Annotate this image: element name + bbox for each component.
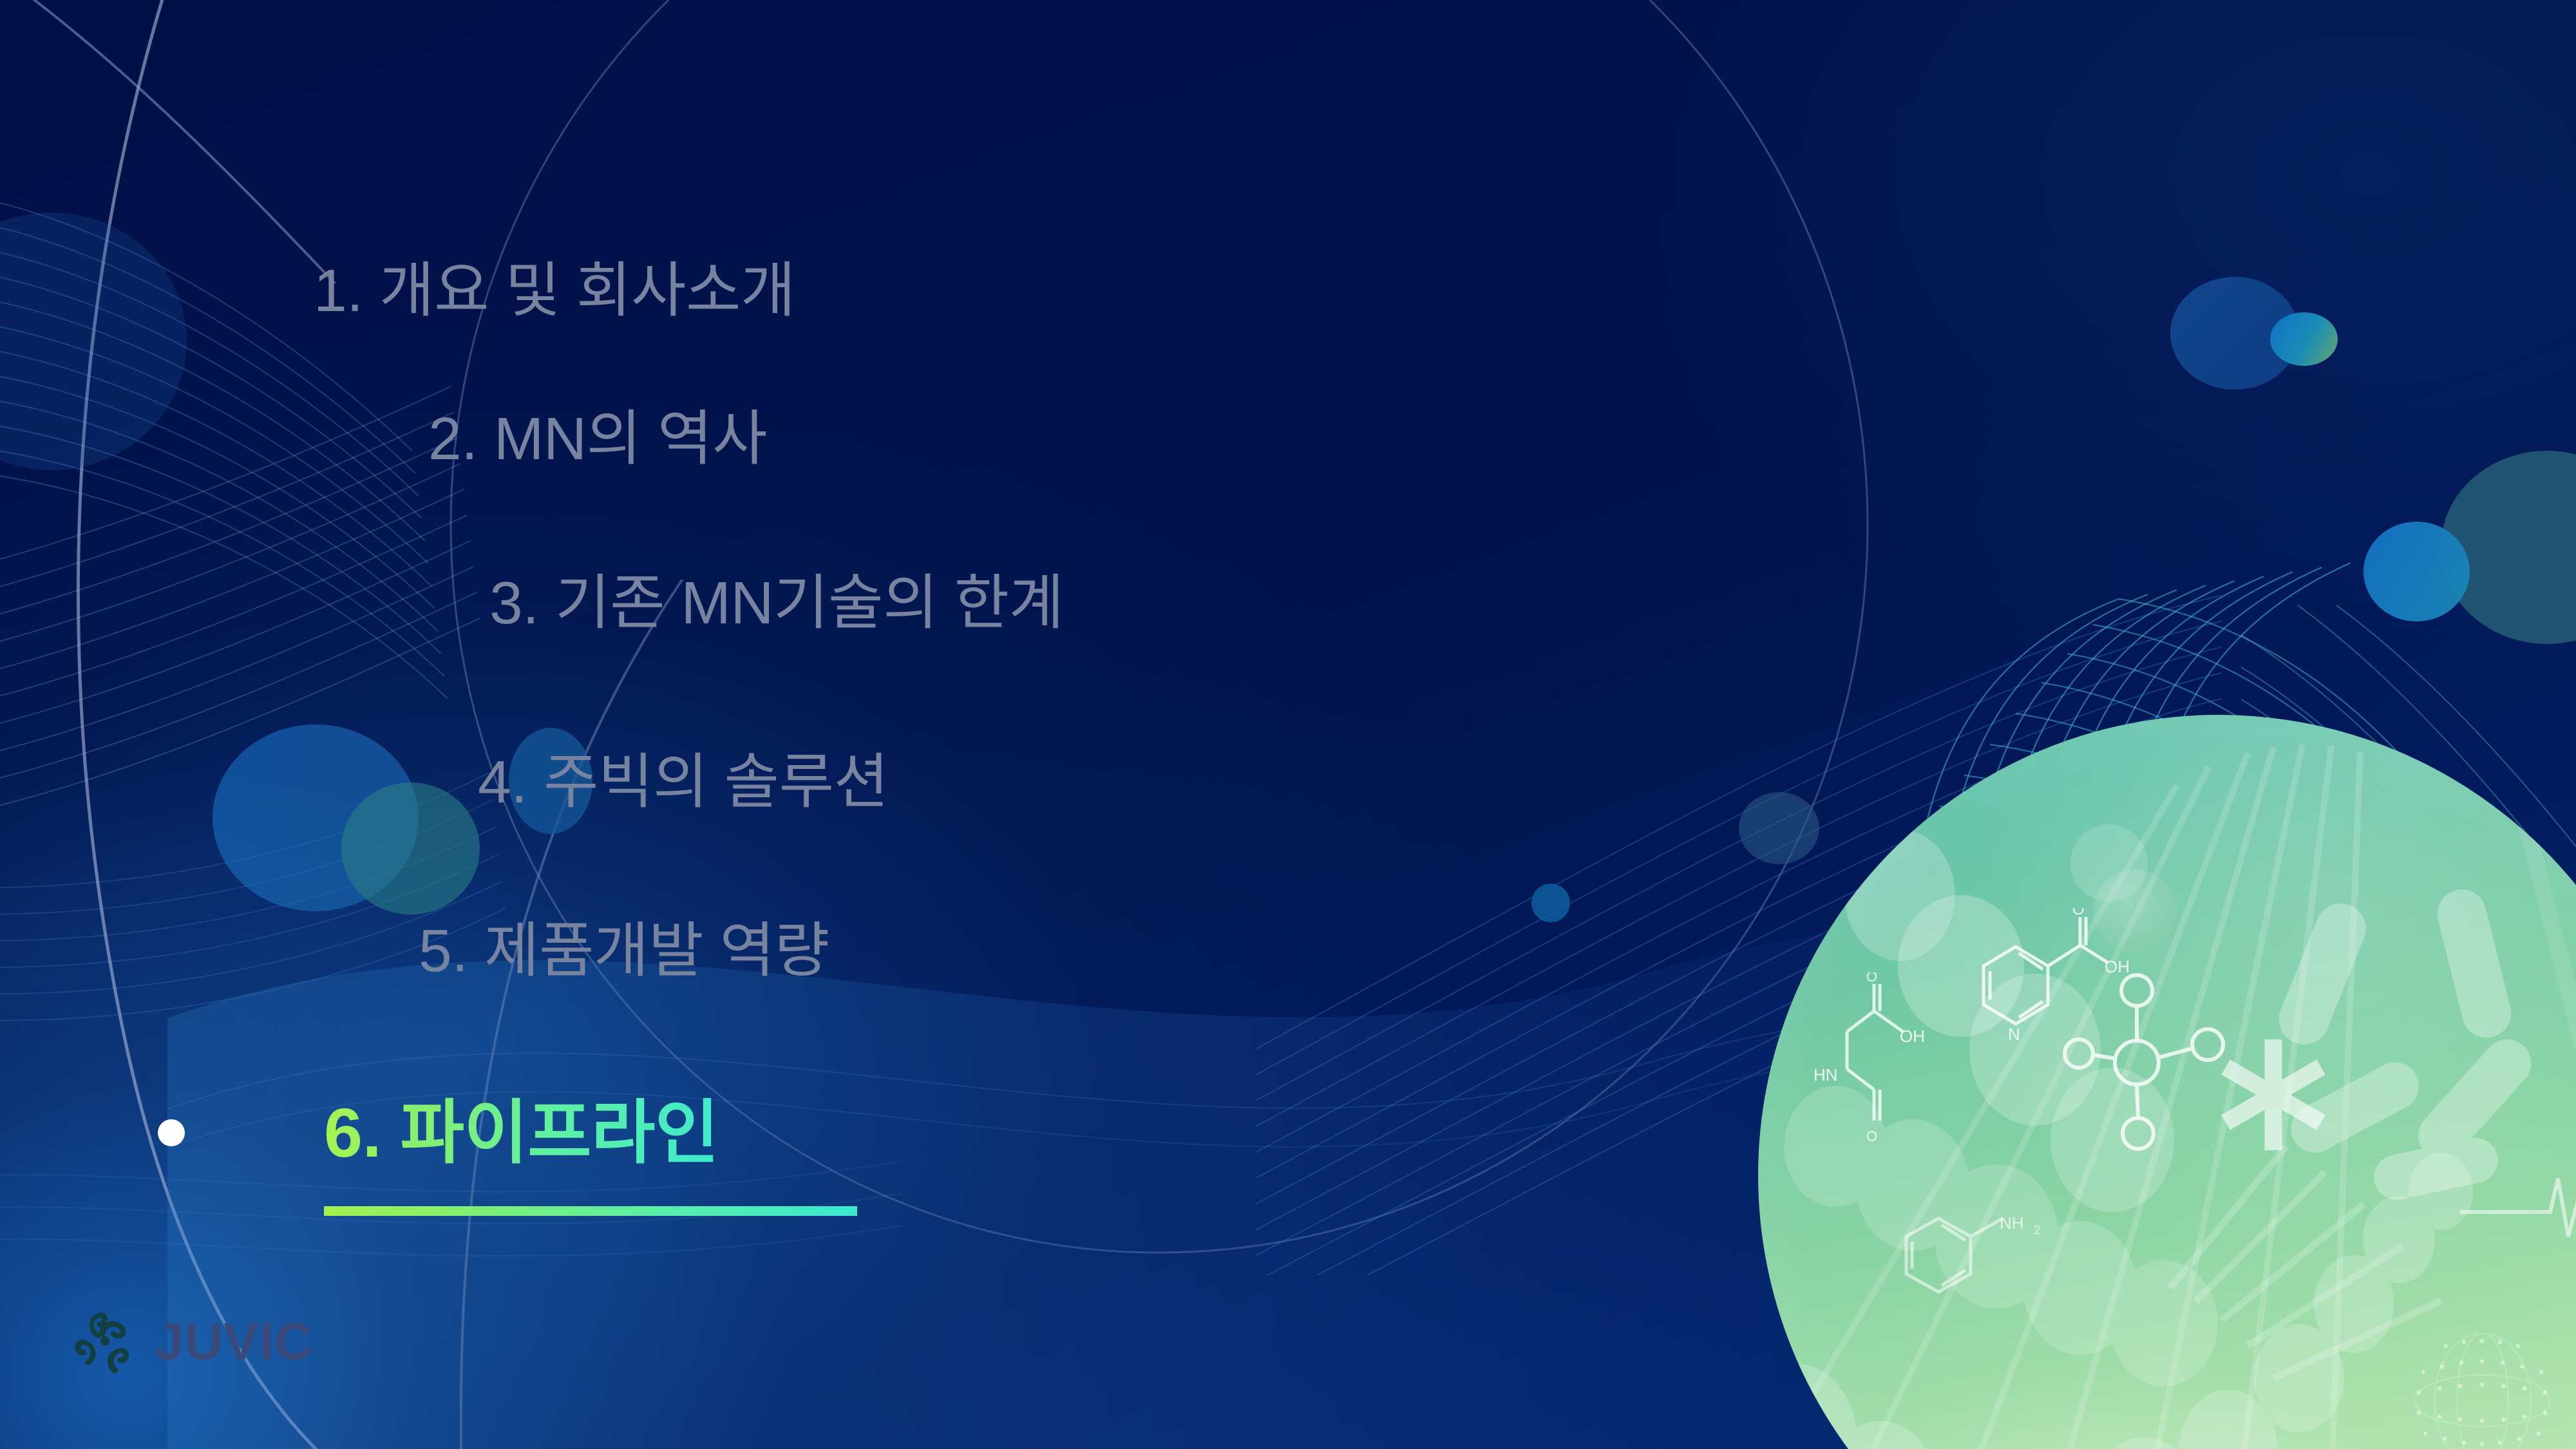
svg-text:OH: OH xyxy=(1900,1027,1925,1046)
soft-sphere-accent xyxy=(2093,869,2177,953)
chem-structure-amino-acid: O OH HN O xyxy=(1797,972,1990,1191)
asterisk-icon xyxy=(2209,1030,2338,1159)
decor-blob-topright-2 xyxy=(2270,312,2338,366)
ecg-waveform xyxy=(2460,1153,2576,1256)
juvic-flower-icon xyxy=(71,1307,140,1377)
agenda-item-4[interactable]: 4. 주빅의 솔루션 xyxy=(478,733,889,820)
svg-text:HN: HN xyxy=(1814,1065,1838,1084)
active-item-underline xyxy=(324,1206,857,1216)
agenda-list: 1. 개요 및 회사소개 2. MN의 역사 3. 기존 MN기술의 한계 4.… xyxy=(0,0,1674,1449)
chem-structure-aniline: NH 2 xyxy=(1871,1191,2083,1346)
agenda-item-5[interactable]: 5. 제품개발 역량 xyxy=(419,902,829,989)
decor-blob-topright-3 xyxy=(2441,451,2576,644)
juvic-logo[interactable]: JUVIC xyxy=(71,1307,314,1377)
svg-text:N: N xyxy=(2008,1025,2020,1044)
svg-text:O: O xyxy=(2072,908,2085,918)
science-illustration-circle: N O OH O OH HN O xyxy=(1758,715,2576,1449)
svg-text:NH: NH xyxy=(2000,1213,2024,1233)
decor-blob-topright-4 xyxy=(2363,522,2470,621)
dotted-sphere xyxy=(2409,1327,2557,1449)
measurement-ruler xyxy=(1771,1443,2576,1449)
presentation-slide: N O OH O OH HN O xyxy=(0,0,2576,1449)
svg-text:O: O xyxy=(1866,972,1877,985)
agenda-item-3[interactable]: 3. 기존 MN기술의 한계 xyxy=(489,554,1064,641)
svg-text:2: 2 xyxy=(2034,1224,2040,1236)
juvic-wordmark: JUVIC xyxy=(155,1316,314,1368)
svg-text:O: O xyxy=(1866,1128,1877,1144)
agenda-item-1[interactable]: 1. 개요 및 회사소개 xyxy=(314,241,795,328)
agenda-item-2[interactable]: 2. MN의 역사 xyxy=(428,390,767,477)
chem-structure-phosphate xyxy=(2061,972,2228,1153)
decor-blob-topright-1 xyxy=(2170,277,2299,390)
agenda-item-6[interactable]: 6. 파이프라인 xyxy=(324,1077,719,1177)
